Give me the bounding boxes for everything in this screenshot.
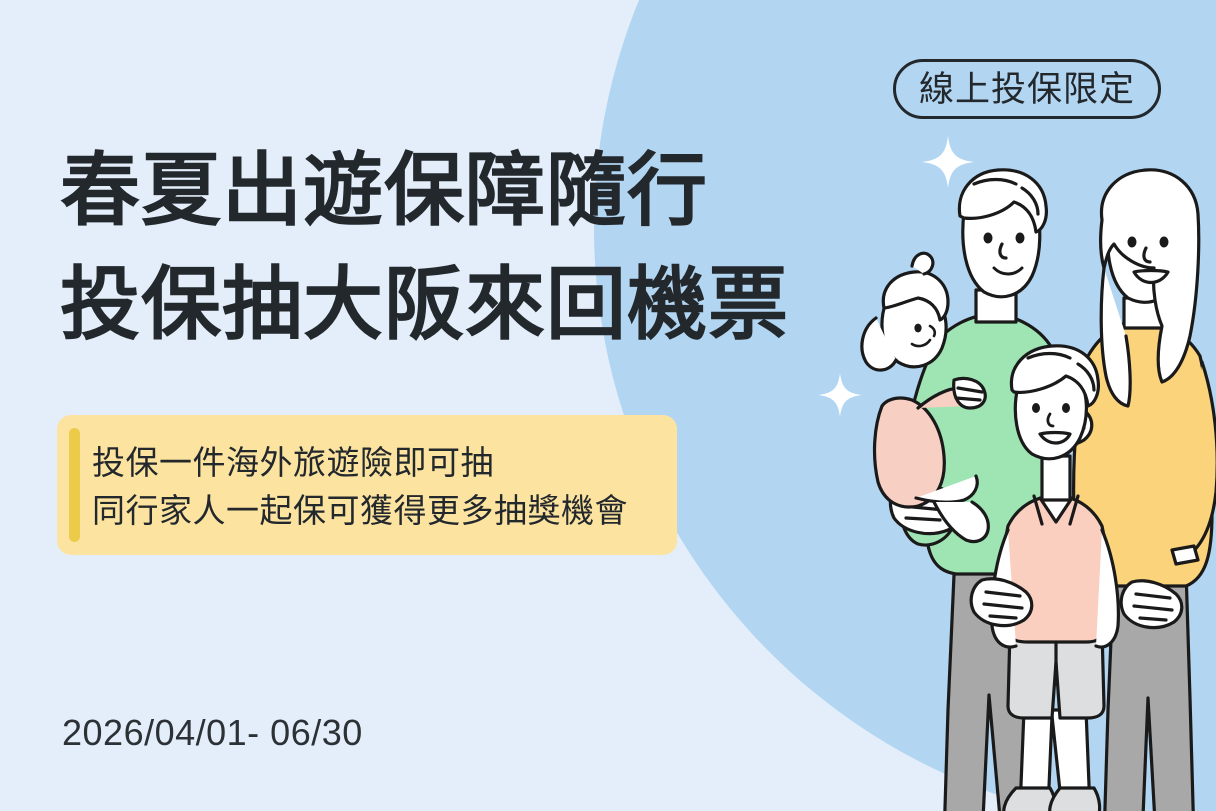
headline-line-2: 投保抽大阪來回機票 [60,248,900,362]
subtitle-card: 投保一件海外旅遊險即可抽 同行家人一起保可獲得更多抽獎機會 [57,415,677,555]
online-only-badge-label: 線上投保限定 [919,72,1135,107]
promotional-banner: 線上投保限定 春夏出遊保障隨行 投保抽大阪來回機票 投保一件海外旅遊險即可抽 同… [0,0,1216,811]
online-only-badge: 線上投保限定 [893,59,1161,119]
subtitle-text-block: 投保一件海外旅遊險即可抽 同行家人一起保可獲得更多抽獎機會 [92,439,665,535]
promo-period-text: 2026/04/01- 06/30 [62,712,363,754]
headline-line-1: 春夏出遊保障隨行 [60,134,900,248]
subtitle-line-1: 投保一件海外旅遊險即可抽 [92,439,665,487]
subtitle-line-2: 同行家人一起保可獲得更多抽獎機會 [92,487,665,535]
subtitle-accent-bar [69,428,80,542]
headline: 春夏出遊保障隨行 投保抽大阪來回機票 [60,134,900,361]
family-illustration [856,150,1216,811]
